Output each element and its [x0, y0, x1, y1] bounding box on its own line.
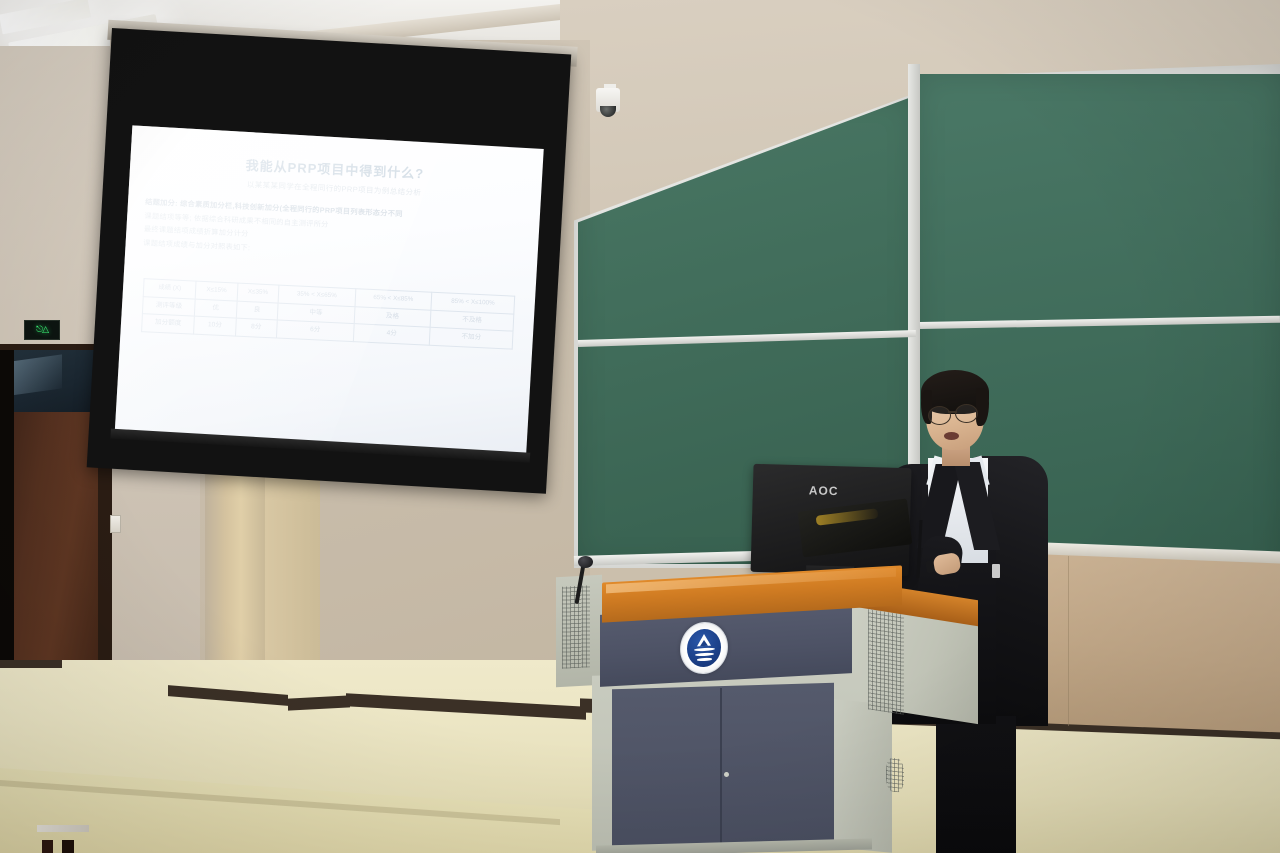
door-rail — [37, 825, 89, 832]
door-shadow-edge — [0, 350, 14, 660]
slide-grading-table: 成绩 (X) X≤15% X≤35% 35% < X≤65% 65% < X≤8… — [141, 278, 515, 350]
row-2-cell-4: 不加分 — [429, 328, 513, 350]
hair-side-right — [976, 388, 989, 426]
slide-body: 结题加分: 综合素质加分栏,科技创新加分(全程同行的PRP项目列表形态分不同 课… — [143, 195, 521, 267]
lectern-door-lock[interactable] — [724, 772, 729, 777]
speaker-grille-lower-right — [886, 757, 904, 793]
light-switch[interactable] — [110, 515, 121, 533]
classroom-door[interactable] — [0, 412, 98, 660]
monitor-brand-label: AOC — [809, 483, 839, 498]
university-emblem — [680, 621, 728, 676]
glasses-lens-left — [928, 406, 951, 425]
door-panel-left — [42, 840, 53, 853]
glasses-lens-right — [955, 404, 978, 423]
row-2-cell-0: 10分 — [194, 317, 236, 337]
speaker-grille-right — [868, 609, 904, 714]
row-1-cell-0: 优 — [195, 299, 237, 319]
exit-sign-icon: ⎋△ — [36, 326, 48, 335]
lectern-base-right — [834, 699, 892, 853]
gooseneck-microphone — [578, 556, 593, 568]
glasses-bridge — [948, 411, 957, 413]
projector-screen-border: 我能从PRP项目中得到什么? 以某某某同学在全程同行的PRP项目为例总结分析 结… — [87, 28, 572, 494]
row-2-cell-2: 6分 — [276, 320, 353, 341]
projector-screen: 我能从PRP项目中得到什么? 以某某某同学在全程同行的PRP项目为例总结分析 结… — [86, 28, 581, 499]
front-desk-seam — [1068, 556, 1069, 726]
door-panel-right — [62, 840, 74, 853]
slide-content: 我能从PRP项目中得到什么? 以某某某同学在全程同行的PRP项目为例总结分析 结… — [116, 127, 542, 456]
row-1-cell-1: 良 — [236, 301, 278, 321]
projected-slide: 我能从PRP项目中得到什么? 以某某某同学在全程同行的PRP项目为例总结分析 结… — [115, 125, 544, 458]
lectern[interactable] — [548, 560, 1006, 853]
row-2-cell-1: 8分 — [235, 318, 277, 338]
exit-sign: ⎋△ — [24, 320, 60, 340]
row-0-cell-0: X≤15% — [195, 281, 237, 300]
mouth — [944, 432, 959, 440]
lectern-door-split — [720, 688, 722, 846]
row-2-label: 加分额度 — [142, 314, 195, 334]
emblem-triangle-inner — [700, 640, 708, 646]
row-2-cell-3: 4分 — [353, 324, 430, 345]
lectern-cabinet-doors[interactable] — [612, 683, 834, 850]
classroom-photo: ⎋△ 我能从PRP项目中得到什么? 以某某某同学在全程同行的PRP项目为例总结分… — [0, 0, 1280, 853]
row-0-cell-1: X≤35% — [237, 283, 279, 302]
